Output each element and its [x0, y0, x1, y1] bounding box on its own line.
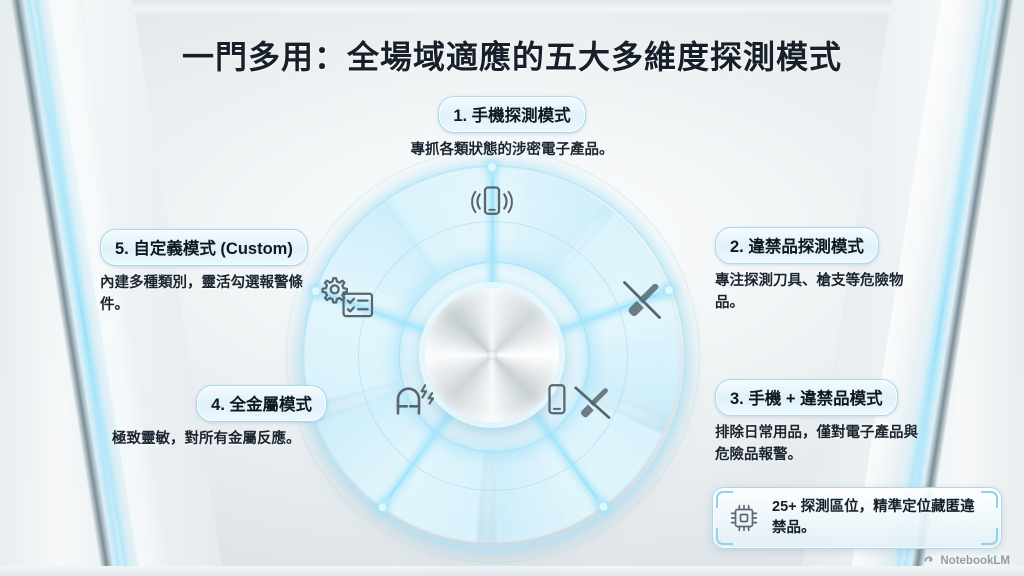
gear-checklist-icon	[316, 270, 378, 326]
callout-mode-2: 2. 違禁品探測模式 專注探測刀具、槍支等危險物品。	[715, 227, 915, 315]
gate-bottom-bar	[0, 566, 1024, 576]
callout-mode-3: 3. 手機 + 違禁品模式 排除日常用品，僅對電子產品與危險品報警。	[715, 379, 920, 467]
slide-canvas: 一門多用：全場域適應的五大多維度探測模式	[0, 0, 1024, 576]
callout-mode-3-desc: 排除日常用品，僅對電子產品與危險品報警。	[715, 423, 920, 467]
callout-mode-1-label[interactable]: 1. 手機探測模式	[438, 96, 585, 133]
callout-mode-5-label[interactable]: 5. 自定義模式 (Custom)	[100, 229, 308, 266]
badge-corner-bottom-right	[981, 528, 998, 545]
badge-corner-top-left	[716, 491, 733, 508]
callout-mode-1: 1. 手機探測模式 專抓各類狀態的涉密電子產品。	[397, 96, 627, 162]
gate-top-bar	[0, 0, 1024, 14]
knife-prohibited-icon	[614, 272, 670, 328]
phone-and-weapon-prohibited-icon	[544, 373, 618, 429]
callout-mode-3-label[interactable]: 3. 手機 + 違禁品模式	[715, 379, 898, 416]
magnet-icon	[384, 373, 440, 429]
callout-mode-1-desc: 專抓各類狀態的涉密電子產品。	[397, 140, 627, 162]
callout-mode-2-label[interactable]: 2. 違禁品探測模式	[715, 227, 879, 264]
callout-mode-4-desc: 極致靈敏，對所有金屬反應。	[112, 429, 327, 451]
phone-signal-icon	[464, 177, 520, 233]
badge-corner-top-right	[981, 491, 998, 508]
notebooklm-watermark: NotebookLM	[923, 553, 1010, 568]
wheel-center-knob[interactable]	[425, 288, 559, 422]
detection-mode-wheel	[292, 155, 692, 555]
badge-corner-bottom-left	[716, 528, 733, 545]
callout-mode-4: 4. 全金屬模式 極致靈敏，對所有金屬反應。	[112, 385, 327, 451]
callout-mode-5-desc: 內建多種類別，靈活勾選報警條件。	[100, 273, 325, 317]
badge-text: 25+ 探測區位，精準定位藏匿違禁品。	[772, 497, 987, 539]
notebooklm-label: NotebookLM	[940, 555, 1010, 567]
notebooklm-icon	[923, 553, 935, 568]
callout-mode-2-desc: 專注探測刀具、槍支等危險物品。	[715, 271, 915, 315]
callout-mode-5: 5. 自定義模式 (Custom) 內建多種類別，靈活勾選報警條件。	[100, 229, 325, 317]
callout-mode-4-label[interactable]: 4. 全金屬模式	[196, 385, 327, 422]
detection-zones-badge: 25+ 探測區位，精準定位藏匿違禁品。	[712, 487, 1002, 549]
page-title: 一門多用：全場域適應的五大多維度探測模式	[0, 32, 1024, 78]
